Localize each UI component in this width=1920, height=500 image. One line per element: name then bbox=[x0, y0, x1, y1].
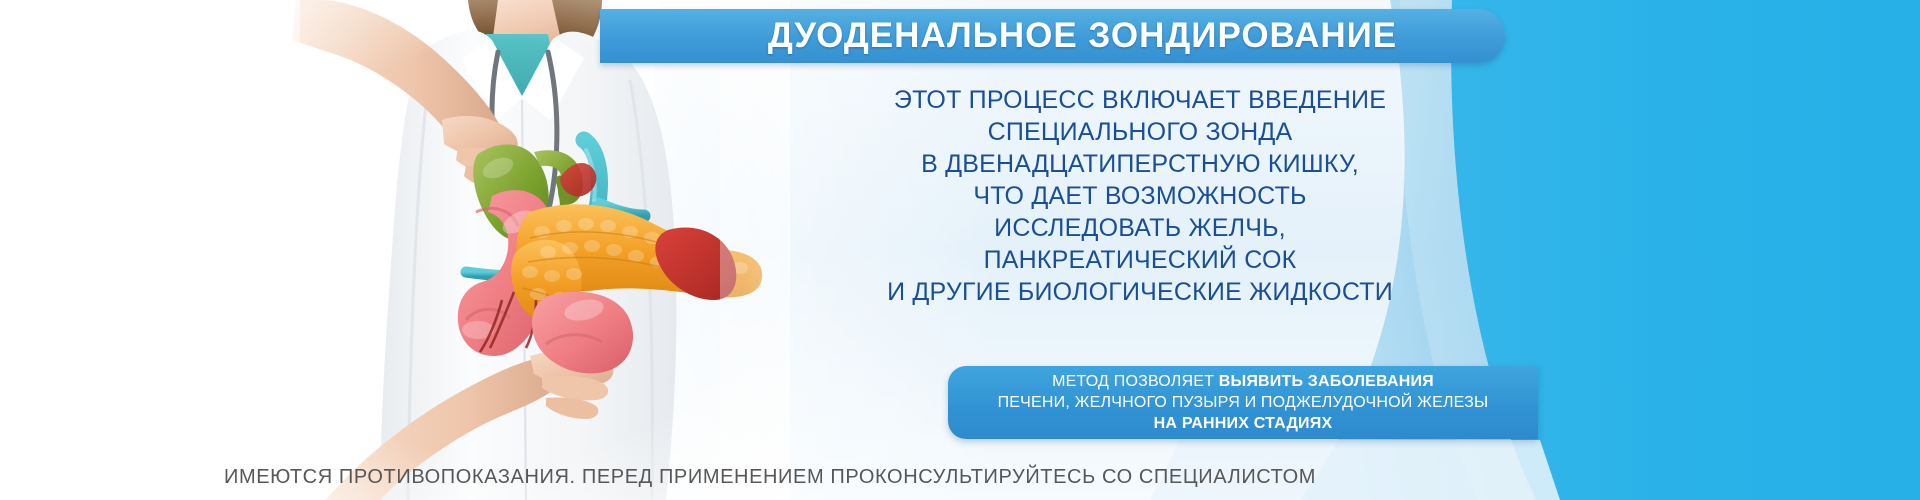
page-title: ДУОДЕНАЛЬНОЕ ЗОНДИРОВАНИЕ bbox=[708, 16, 1397, 56]
callout-line-1-normal: МЕТОД ПОЗВОЛЯЕТ bbox=[1052, 373, 1219, 390]
description-line-5: ИССЛЕДОВАТЬ ЖЕЛЧЬ, bbox=[740, 212, 1540, 244]
doctor-illustration bbox=[230, 0, 790, 500]
doctor-photo bbox=[230, 0, 790, 500]
description-line-4: ЧТО ДАЕТ ВОЗМОЖНОСТЬ bbox=[740, 180, 1540, 212]
description-line-1: ЭТОТ ПРОЦЕСС ВКЛЮЧАЕТ ВВЕДЕНИЕ bbox=[740, 84, 1540, 116]
callout-line-2: ПЕЧЕНИ, ЖЕЛЧНОГО ПУЗЫРЯ И ПОДЖЕЛУДОЧНОЙ … bbox=[998, 392, 1489, 413]
highlight-callout: МЕТОД ПОЗВОЛЯЕТ ВЫЯВИТЬ ЗАБОЛЕВАНИЯ ПЕЧЕ… bbox=[948, 366, 1538, 439]
banner-title-bar: ДУОДЕНАЛЬНОЕ ЗОНДИРОВАНИЕ bbox=[600, 9, 1505, 63]
banner-root: ДУОДЕНАЛЬНОЕ ЗОНДИРОВАНИЕ ЭТОТ ПРОЦЕСС В… bbox=[0, 0, 1920, 500]
description-line-7: И ДРУГИЕ БИОЛОГИЧЕСКИЕ ЖИДКОСТИ bbox=[740, 276, 1540, 308]
description-line-6: ПАНКРЕАТИЧЕСКИЙ СОК bbox=[740, 244, 1540, 276]
callout-line-1-bold: ВЫЯВИТЬ ЗАБОЛЕВАНИЯ bbox=[1219, 373, 1434, 390]
callout-line-1: МЕТОД ПОЗВОЛЯЕТ ВЫЯВИТЬ ЗАБОЛЕВАНИЯ bbox=[1052, 371, 1434, 392]
description-line-2: СПЕЦИАЛЬНОГО ЗОНДА bbox=[740, 116, 1540, 148]
disclaimer-text: ИМЕЮТСЯ ПРОТИВОПОКАЗАНИЯ. ПЕРЕД ПРИМЕНЕН… bbox=[0, 466, 1540, 489]
callout-line-3: НА РАННИХ СТАДИЯХ bbox=[1154, 413, 1333, 434]
description-text: ЭТОТ ПРОЦЕСС ВКЛЮЧАЕТ ВВЕДЕНИЕ СПЕЦИАЛЬН… bbox=[740, 84, 1540, 308]
description-line-3: В ДВЕНАДЦАТИПЕРСТНУЮ КИШКУ, bbox=[740, 148, 1540, 180]
